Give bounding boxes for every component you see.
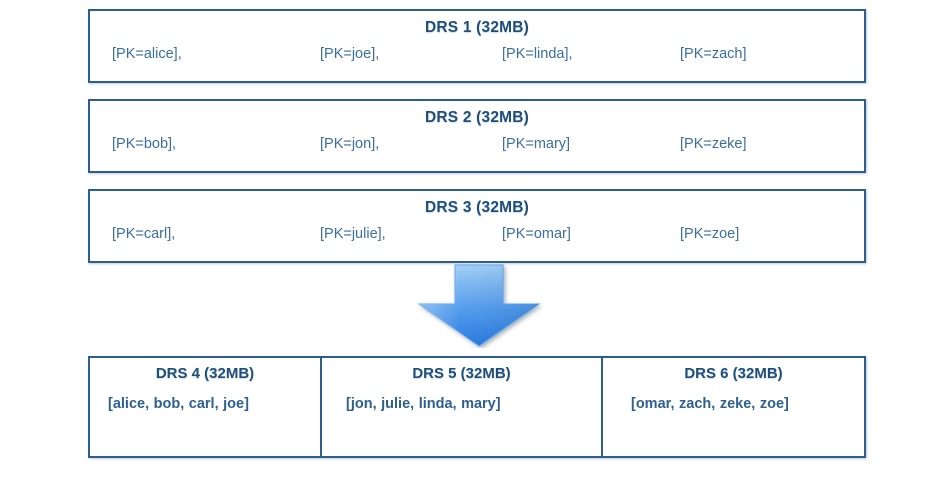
- pk-entry: [PK=omar]: [502, 227, 680, 243]
- pk-entry: [PK=jon],: [320, 137, 502, 153]
- drs-source-box-1-title: DRS 1 (32MB): [90, 20, 864, 36]
- pk-entry: [PK=linda],: [502, 47, 680, 63]
- pk-entry: [PK=zoe]: [680, 227, 846, 243]
- drs-destination-row: DRS 4 (32MB) [alice, bob, carl, joe] DRS…: [88, 356, 866, 458]
- drs-compaction-diagram: DRS 1 (32MB) [PK=alice], [PK=joe], [PK=l…: [0, 0, 925, 487]
- pk-entry: [PK=julie],: [320, 227, 502, 243]
- pk-entry: [PK=joe],: [320, 47, 502, 63]
- pk-entry: [PK=zach]: [680, 47, 846, 63]
- drs-dest-box-4: DRS 4 (32MB) [alice, bob, carl, joe]: [90, 358, 322, 456]
- drs-source-box-1-entries: [PK=alice], [PK=joe], [PK=linda], [PK=za…: [90, 47, 864, 63]
- drs-dest-box-6-content: [omar, zach, zeke, zoe]: [603, 395, 864, 414]
- pk-entry: [PK=alice],: [112, 47, 320, 63]
- drs-source-box-1: DRS 1 (32MB) [PK=alice], [PK=joe], [PK=l…: [88, 9, 866, 83]
- drs-dest-box-6: DRS 6 (32MB) [omar, zach, zeke, zoe]: [603, 358, 864, 456]
- drs-source-box-3-entries: [PK=carl], [PK=julie], [PK=omar] [PK=zoe…: [90, 227, 864, 243]
- pk-entry: [PK=mary]: [502, 137, 680, 153]
- drs-dest-box-5-title: DRS 5 (32MB): [322, 366, 601, 382]
- drs-source-box-2: DRS 2 (32MB) [PK=bob], [PK=jon], [PK=mar…: [88, 99, 866, 173]
- drs-dest-box-5: DRS 5 (32MB) [jon, julie, linda, mary]: [322, 358, 603, 456]
- down-arrow-icon: [415, 264, 543, 348]
- drs-dest-box-6-title: DRS 6 (32MB): [603, 366, 864, 382]
- drs-source-box-2-entries: [PK=bob], [PK=jon], [PK=mary] [PK=zeke]: [90, 137, 864, 153]
- drs-source-box-3: DRS 3 (32MB) [PK=carl], [PK=julie], [PK=…: [88, 189, 866, 263]
- drs-dest-box-4-content: [alice, bob, carl, joe]: [90, 395, 320, 414]
- drs-dest-box-4-title: DRS 4 (32MB): [90, 366, 320, 382]
- drs-source-box-3-title: DRS 3 (32MB): [90, 200, 864, 216]
- pk-entry: [PK=zeke]: [680, 137, 846, 153]
- pk-entry: [PK=carl],: [112, 227, 320, 243]
- pk-entry: [PK=bob],: [112, 137, 320, 153]
- drs-dest-box-5-content: [jon, julie, linda, mary]: [322, 395, 601, 414]
- drs-source-box-2-title: DRS 2 (32MB): [90, 110, 864, 126]
